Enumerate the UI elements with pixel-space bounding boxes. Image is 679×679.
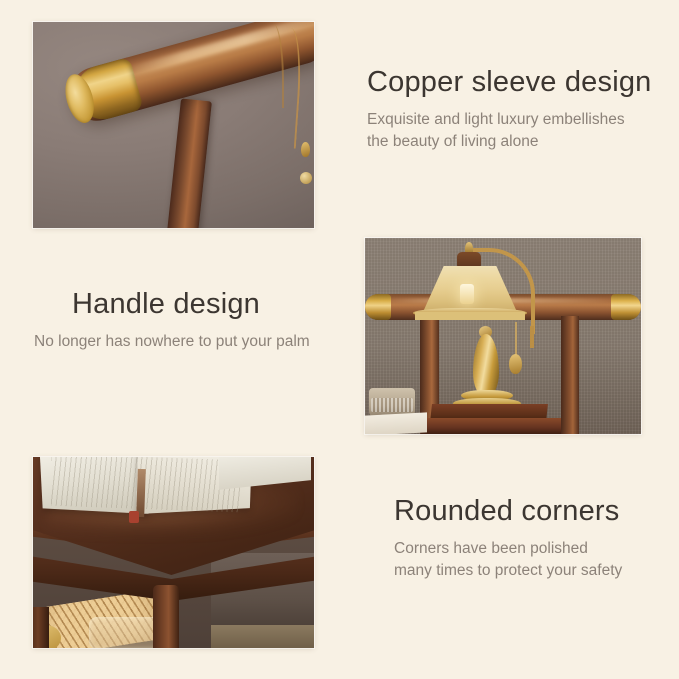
cord-bead-shape xyxy=(301,142,310,157)
background-panel-lower-shape xyxy=(211,625,314,648)
lamp-neck-shape xyxy=(457,252,481,268)
photo-table-lamp xyxy=(365,238,641,434)
photo-copper-sleeve xyxy=(33,22,314,228)
lamp-arm-drop-shape xyxy=(530,326,534,348)
lamp-pull-chain-shape xyxy=(515,322,517,356)
lamp-shade-scallop-shape xyxy=(415,312,525,320)
book-bookmark-shape xyxy=(129,511,139,523)
book-page-lines-shape xyxy=(51,457,241,512)
lamp-bulb-shape xyxy=(460,284,474,304)
infographic-page: Copper sleeve design Exquisite and light… xyxy=(0,0,679,679)
lamp-post-right-shape xyxy=(561,316,579,434)
ceramic-cup-texture-shape xyxy=(371,398,413,412)
copper-sleeve-scene xyxy=(33,22,314,228)
feature-title-copper-sleeve: Copper sleeve design xyxy=(367,66,667,98)
table-side-leg-shape xyxy=(33,607,49,648)
lamp-book-shape xyxy=(421,418,561,434)
rounded-corner-scene xyxy=(33,457,314,648)
table-corner-leg-shape xyxy=(153,585,179,648)
photo-rounded-corner xyxy=(33,457,314,648)
lamp-chain-weight-shape xyxy=(509,354,522,374)
book-spine-shape xyxy=(136,469,146,517)
lamp-rail-right-cap-shape xyxy=(611,294,641,320)
feature-title-handle: Handle design xyxy=(72,288,362,320)
wood-post-shape xyxy=(167,98,212,228)
table-lamp-scene xyxy=(365,238,641,434)
cord-bead-secondary-shape xyxy=(300,172,312,184)
feature-text-copper-sleeve: Copper sleeve design Exquisite and light… xyxy=(367,66,667,153)
feature-text-rounded-corners: Rounded corners Corners have been polish… xyxy=(394,495,664,582)
feature-subtitle-handle: No longer has nowhere to put your palm xyxy=(34,331,362,353)
paper-sheet-shape xyxy=(365,412,427,434)
feature-subtitle-copper-sleeve: Exquisite and light luxury embellishes t… xyxy=(367,109,667,153)
feature-subtitle-rounded-corners: Corners have been polished many times to… xyxy=(394,538,664,582)
lamp-rail-left-cap-shape xyxy=(365,294,391,320)
feature-text-handle: Handle design No longer has nowhere to p… xyxy=(72,288,362,353)
feature-title-rounded-corners: Rounded corners xyxy=(394,495,664,527)
